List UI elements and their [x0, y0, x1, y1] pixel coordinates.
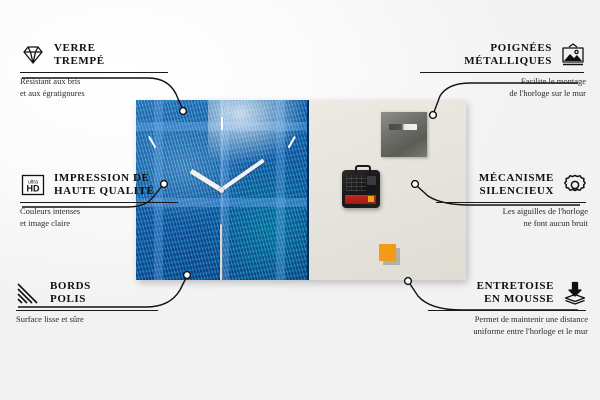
- mechanism-hook: [355, 165, 371, 174]
- subtitle-line: uniforme entre l'horloge et le mur: [428, 326, 588, 337]
- callout-subtitle: Couleurs intenses et image claire: [20, 206, 180, 228]
- callout-subtitle: Facilite le montage de l'horloge sur le …: [420, 76, 586, 98]
- hand-hub: [219, 188, 224, 193]
- infographic-canvas: VERRE TREMPÉ Résistant aux bris et aux é…: [0, 0, 600, 400]
- callout-title: BORDS POLIS: [50, 280, 91, 307]
- callout-title: ENTRETOISE EN MOUSSE: [477, 280, 554, 307]
- hour-tick: [288, 136, 296, 148]
- badge-text-bottom: HD: [27, 184, 40, 194]
- hanger-keyhole-slot: [389, 124, 417, 130]
- subtitle-line: Permet de maintenir une distance: [428, 314, 588, 325]
- title-line: MÉTALLIQUES: [464, 55, 552, 68]
- subtitle-line: et aux égratignures: [20, 88, 170, 99]
- ultra-hd-badge-icon: ultra HD: [20, 173, 46, 197]
- title-line: VERRE: [54, 42, 105, 55]
- callout-title: IMPRESSION DE HAUTE QUALITÉ: [54, 172, 154, 199]
- callout-header: ultra HD IMPRESSION DE HAUTE QUALITÉ: [20, 172, 180, 199]
- callout-mecanisme-silencieux: MÉCANISME SILENCIEUX Les aiguilles de l'…: [436, 172, 588, 229]
- callout-bords-polis: BORDS POLIS Surface lisse et sûre: [16, 280, 160, 326]
- title-line: IMPRESSION DE: [54, 172, 154, 185]
- callout-rule: [420, 72, 584, 74]
- callout-header: VERRE TREMPÉ: [20, 42, 170, 69]
- battery: [345, 195, 376, 204]
- callout-title: POIGNÉES MÉTALLIQUES: [464, 42, 552, 69]
- title-line: MÉCANISME: [479, 172, 554, 185]
- picture-frame-hanger-icon: [560, 43, 586, 67]
- title-line: BORDS: [50, 280, 91, 293]
- callout-subtitle: Les aiguilles de l'horloge ne font aucun…: [436, 206, 588, 228]
- callout-entretoise-en-mousse: ENTRETOISE EN MOUSSE Permet de maintenir…: [428, 280, 588, 337]
- subtitle-line: ne font aucun bruit: [436, 218, 588, 229]
- callout-subtitle: Surface lisse et sûre: [16, 314, 160, 325]
- hour-tick: [221, 117, 223, 130]
- title-line: POLIS: [50, 293, 91, 306]
- polished-edge-icon: [16, 281, 42, 305]
- title-line: ENTRETOISE: [477, 280, 554, 293]
- foam-spacer-arrow-icon: [562, 281, 588, 305]
- callout-subtitle: Permet de maintenir une distance uniform…: [428, 314, 588, 336]
- callout-header: ENTRETOISE EN MOUSSE: [428, 280, 588, 307]
- callout-impression-haute-qualite: ultra HD IMPRESSION DE HAUTE QUALITÉ Cou…: [20, 172, 180, 229]
- hour-hand: [190, 169, 223, 192]
- title-line: EN MOUSSE: [477, 293, 554, 306]
- minute-hand: [220, 159, 265, 192]
- callout-header: BORDS POLIS: [16, 280, 160, 307]
- subtitle-line: Résistant aux bris: [20, 76, 170, 87]
- subtitle-line: Facilite le montage: [420, 76, 586, 87]
- subtitle-line: de l'horloge sur le mur: [420, 88, 586, 99]
- second-hand: [220, 224, 222, 280]
- gear-icon: [562, 173, 588, 197]
- callout-rule: [20, 202, 178, 204]
- callout-rule: [436, 202, 586, 204]
- hour-tick: [149, 136, 157, 148]
- title-line: TREMPÉ: [54, 55, 105, 68]
- metal-hanger-plate: [381, 112, 427, 157]
- callout-subtitle: Résistant aux bris et aux égratignures: [20, 76, 170, 98]
- callout-header: MÉCANISME SILENCIEUX: [436, 172, 588, 199]
- callout-rule: [428, 310, 586, 312]
- product-photo: [136, 100, 466, 280]
- subtitle-line: Les aiguilles de l'horloge: [436, 206, 588, 217]
- title-line: POIGNÉES: [464, 42, 552, 55]
- callout-header: POIGNÉES MÉTALLIQUES: [420, 42, 586, 69]
- diamond-icon: [20, 43, 46, 67]
- title-line: SILENCIEUX: [479, 185, 554, 198]
- callout-title: MÉCANISME SILENCIEUX: [479, 172, 554, 199]
- battery-terminal: [368, 196, 374, 202]
- clock-mechanism: [342, 170, 380, 208]
- foam-spacer: [379, 244, 396, 261]
- subtitle-line: Surface lisse et sûre: [16, 314, 160, 325]
- mechanism-texture: [346, 175, 366, 191]
- callout-verre-trempe: VERRE TREMPÉ Résistant aux bris et aux é…: [20, 42, 170, 99]
- subtitle-line: Couleurs intenses: [20, 206, 180, 217]
- callout-poignees-metalliques: POIGNÉES MÉTALLIQUES Facilite le montage…: [420, 42, 586, 99]
- subtitle-line: et image claire: [20, 218, 180, 229]
- callout-rule: [20, 72, 168, 74]
- callout-rule: [16, 310, 158, 312]
- callout-title: VERRE TREMPÉ: [54, 42, 105, 69]
- title-line: HAUTE QUALITÉ: [54, 185, 154, 198]
- mechanism-chip: [367, 176, 376, 185]
